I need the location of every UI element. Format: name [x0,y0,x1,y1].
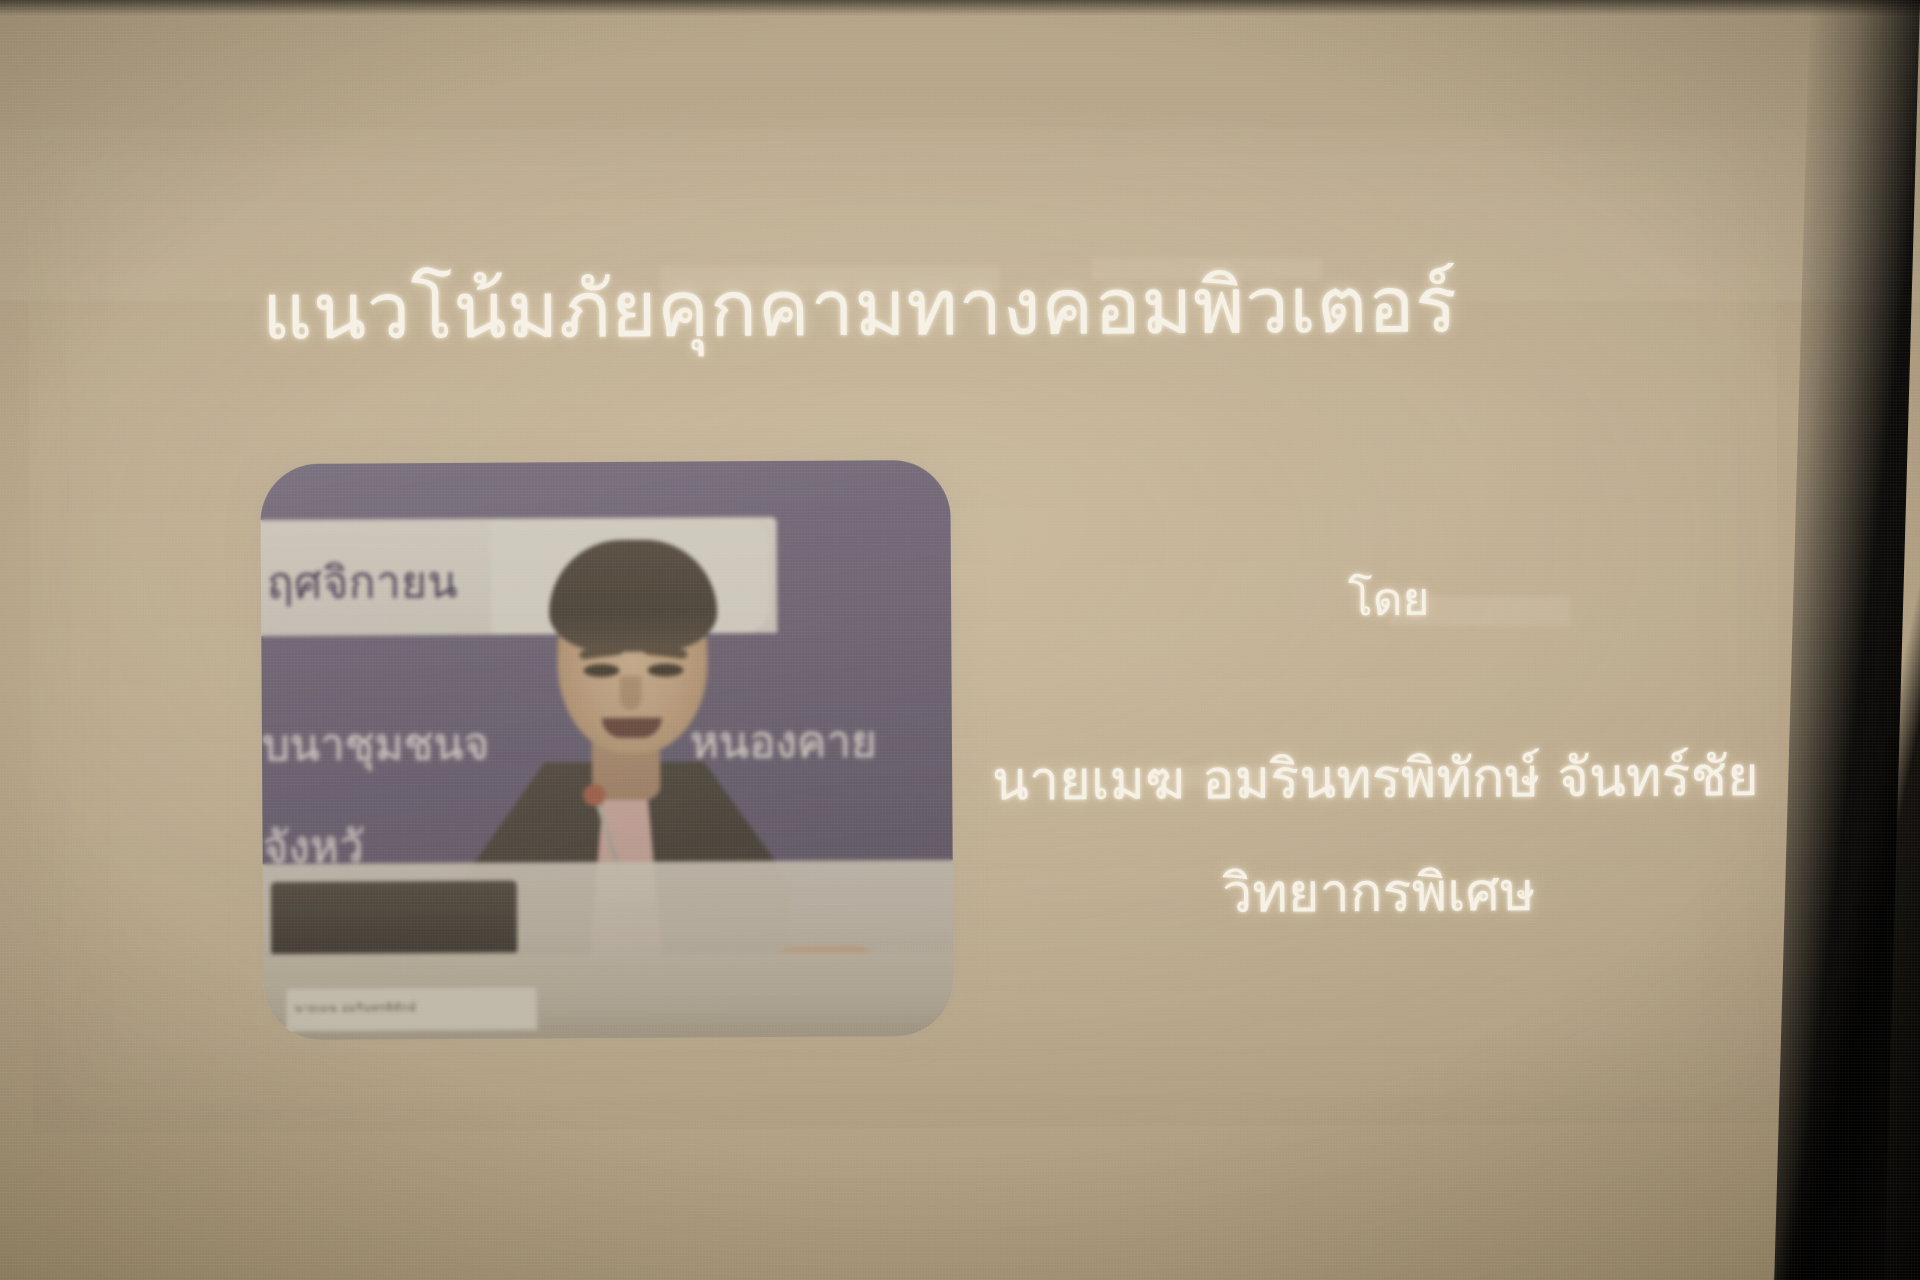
by-label: โดย [1348,576,1430,622]
nameplate: นายเมฆ อมรินทรพิทักษ์ [285,986,537,1032]
nameplate-text: นายเมฆ อมรินทรพิทักษ์ [295,998,417,1017]
banner-line-1b: หนองคาย [690,706,877,777]
speaker-nose [620,676,642,710]
speaker-name: นายเมฆ อมรินทรพิทักษ์ จันทร์ชัย [992,750,1759,809]
screenshot-root: แนวโน้มภัยคุกคามทางคอมพิวเตอร์ ฤศจิกายน … [0,0,1920,1280]
speaker-photo: ฤศจิกายน บนาชุมชนจ หนองคาย จังหวั นายเมฆ… [260,460,954,1040]
banner-line-1: บนาชุมชนจ [262,709,490,780]
laptop-on-table [271,881,517,955]
top-shadow [0,0,1920,16]
speaker-role: วิทยากรพิเศษ [1222,865,1536,921]
banner-month-text: ฤศจิกายน [267,547,458,618]
slide-title: แนวโน้มภัยคุกคามทางคอมพิวเตอร์ [262,266,1458,351]
microphone-head [583,784,605,806]
